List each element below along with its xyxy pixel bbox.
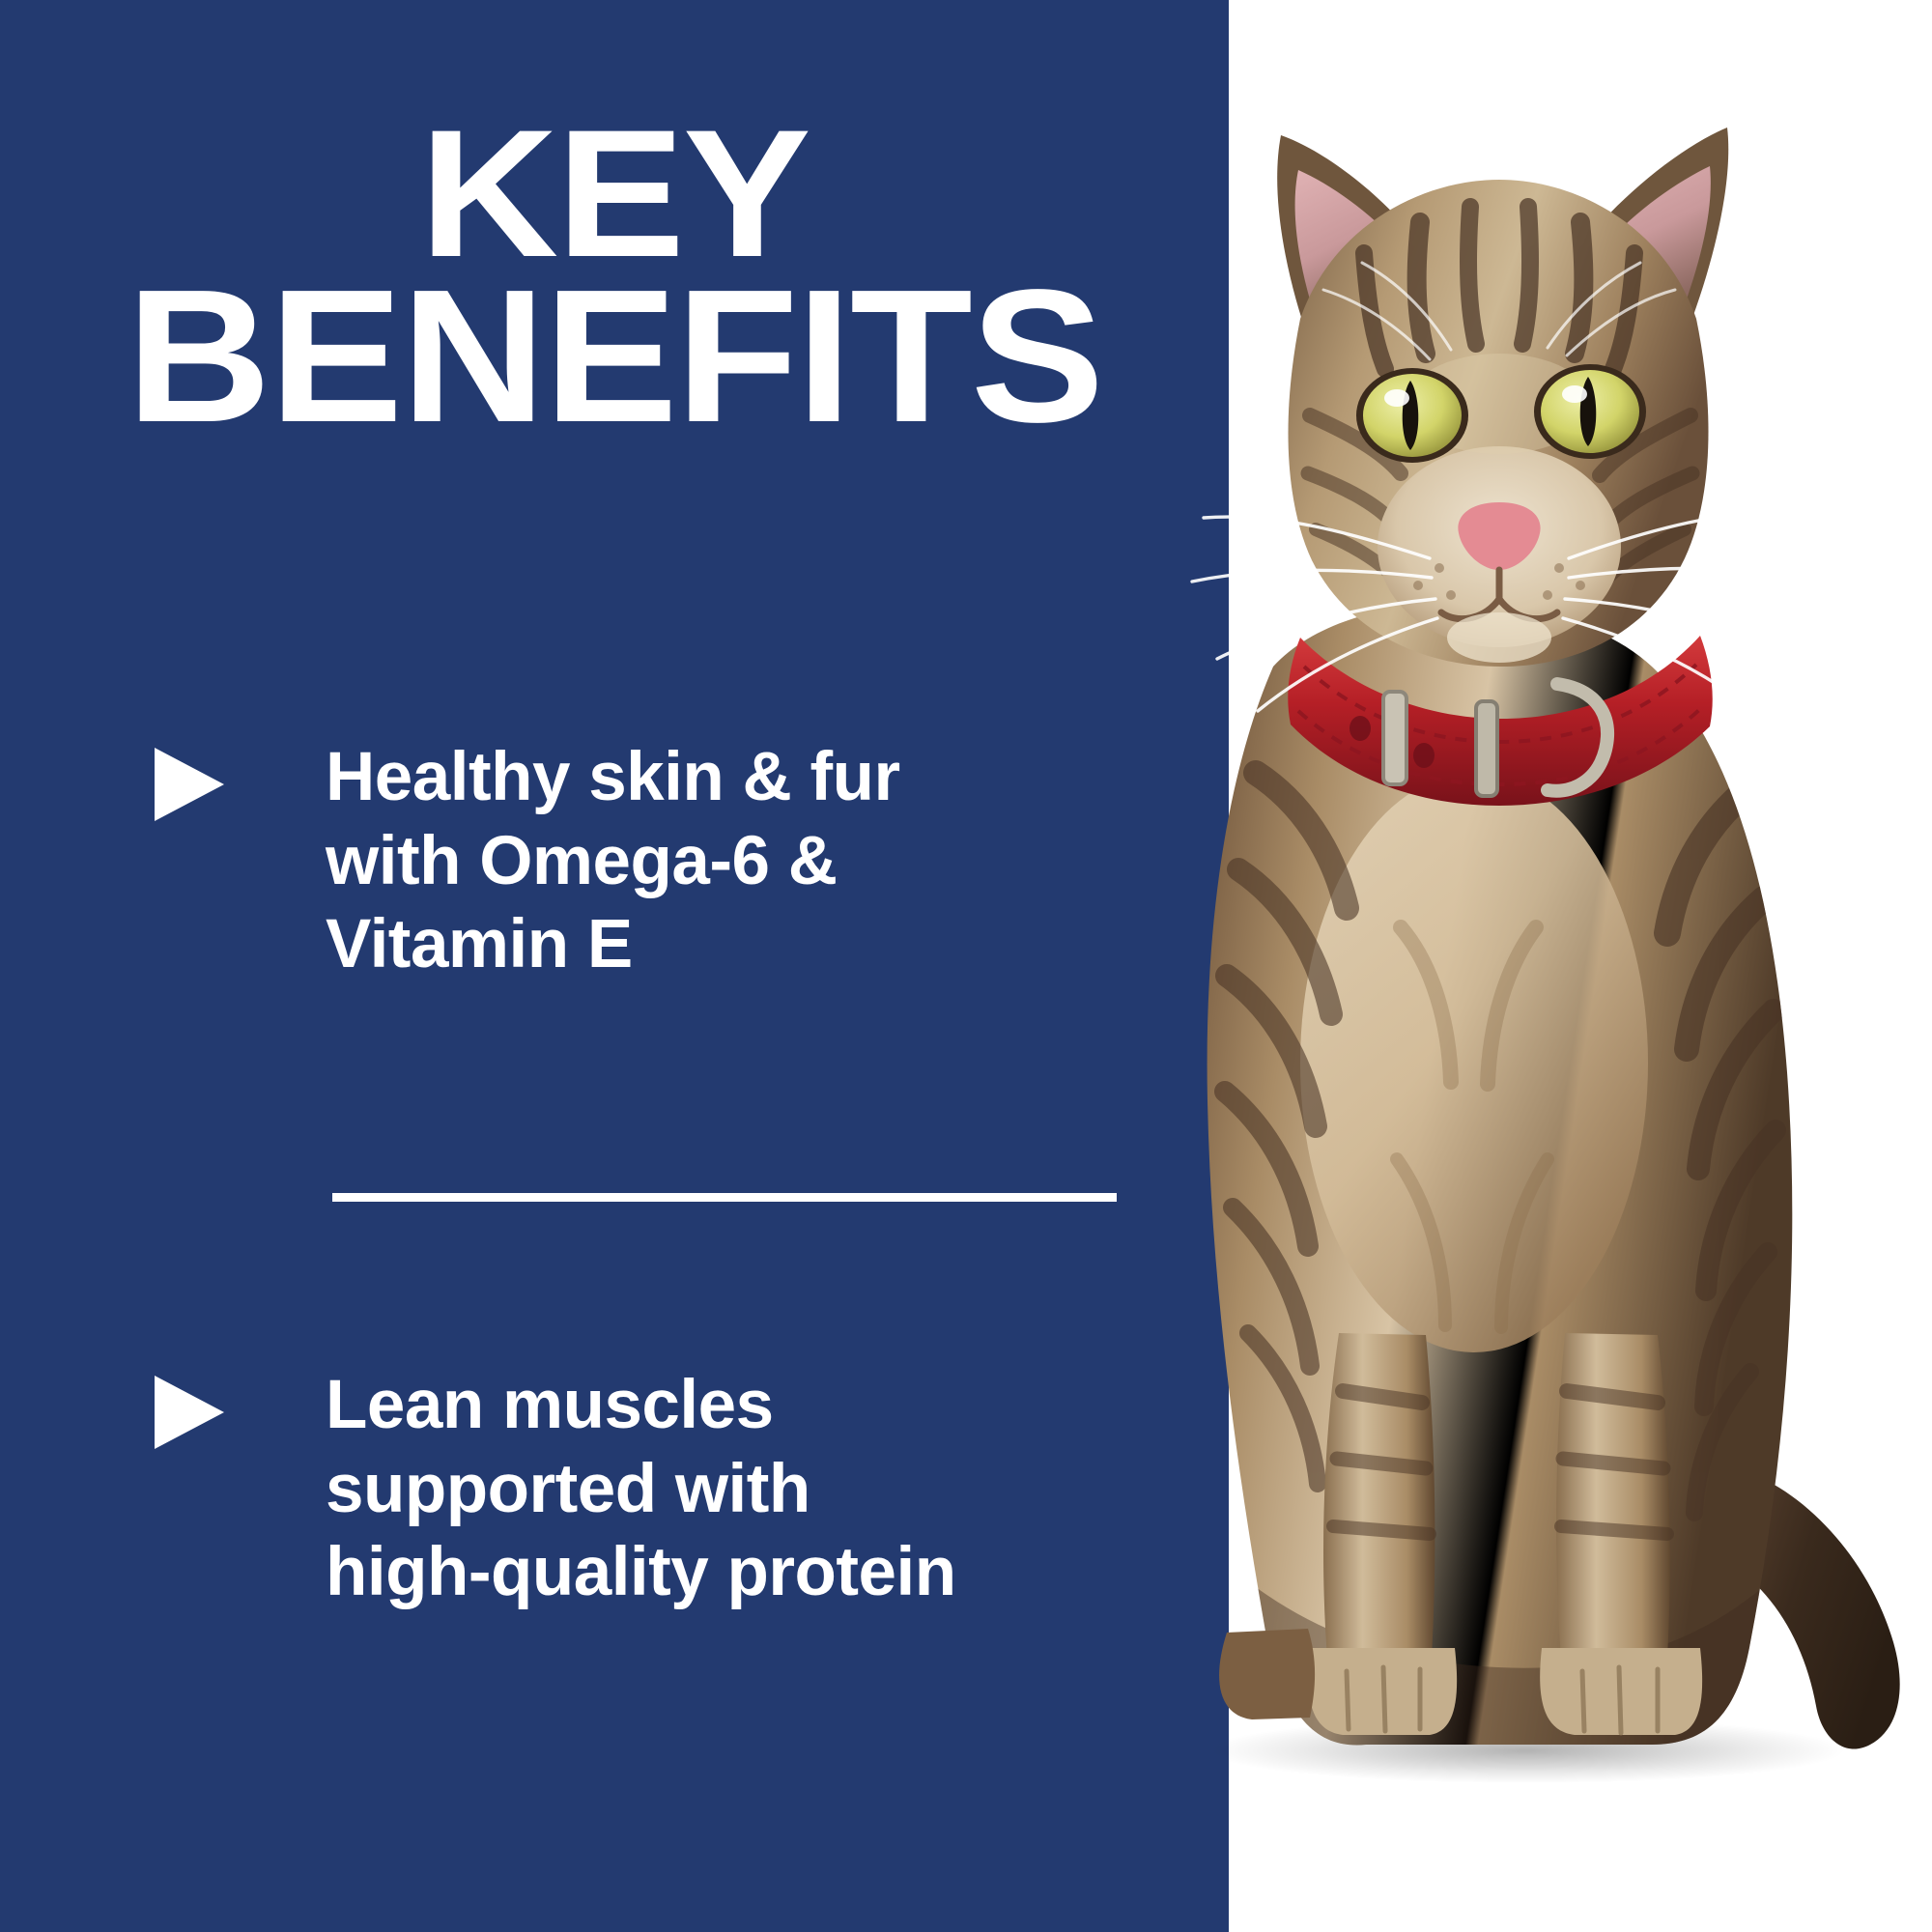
key-benefits-poster: KEY BENEFITS Healthy skin & fur with Ome…	[0, 0, 1932, 1932]
benefit-item-1-text: Healthy skin & fur with Omega-6 & Vitami…	[326, 736, 1179, 987]
benefit-item-2: Lean muscles supported with high-quality…	[155, 1364, 1179, 1615]
benefit-2-line-3: high-quality protein	[326, 1531, 1179, 1615]
cat-left-eye	[1356, 368, 1468, 463]
triangle-right-icon	[155, 1376, 224, 1449]
triangle-right-icon	[155, 748, 224, 821]
benefit-divider	[332, 1193, 1117, 1202]
benefit-2-line-1: Lean muscles	[326, 1364, 1179, 1448]
benefit-item-2-text: Lean muscles supported with high-quality…	[326, 1364, 1179, 1615]
benefit-1-line-2: with Omega-6 &	[326, 820, 1179, 904]
cat-head	[1192, 128, 1818, 711]
benefit-item-1: Healthy skin & fur with Omega-6 & Vitami…	[155, 736, 1179, 987]
benefit-1-line-1: Healthy skin & fur	[326, 736, 1179, 820]
page-title-line-2: BENEFITS	[0, 273, 1265, 440]
benefit-1-line-3: Vitamin E	[326, 903, 1179, 987]
cat-rear-paw	[1219, 1629, 1315, 1719]
cat-right-eye	[1534, 364, 1646, 459]
page-title: KEY BENEFITS	[0, 114, 1265, 440]
cat-photo	[1111, 0, 1932, 1932]
benefit-2-line-2: supported with	[326, 1448, 1179, 1532]
